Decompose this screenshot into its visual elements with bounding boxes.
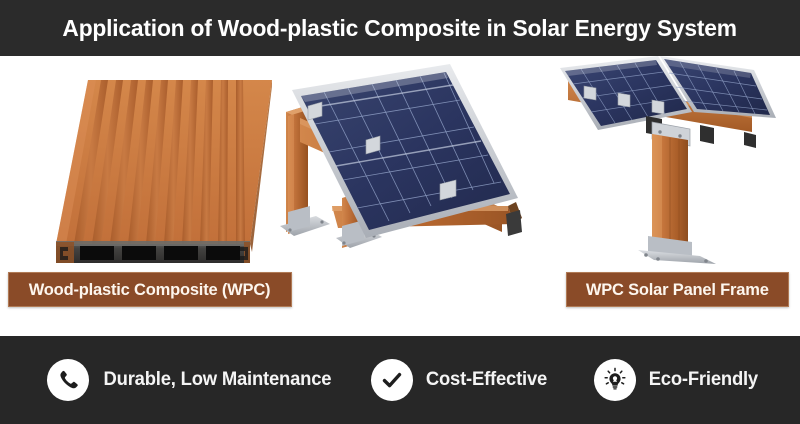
solar-frame-svg <box>270 56 526 270</box>
feature-eco-friendly-label: Eco-Friendly <box>649 369 758 391</box>
caption-wpc-board-text: Wood-plastic Composite (WPC) <box>29 280 271 300</box>
features-bar: Durable, Low Maintenance Cost-Effective <box>0 336 800 424</box>
caption-wpc-board: Wood-plastic Composite (WPC) <box>8 272 292 307</box>
check-icon-glyph <box>380 368 404 392</box>
check-icon <box>371 359 413 401</box>
lightbulb-icon-glyph <box>602 367 628 393</box>
phone-icon <box>47 359 89 401</box>
feature-durable-low-maintenance-label: Durable, Low Maintenance <box>104 369 332 391</box>
lightbulb-icon <box>594 359 636 401</box>
feature-durable-low-maintenance[interactable]: Durable, Low Maintenance <box>47 359 335 401</box>
mounting-structure-illustration <box>540 56 800 270</box>
header-banner: Application of Wood-plastic Composite in… <box>0 0 800 56</box>
feature-cost-effective[interactable]: Cost-Effective <box>371 359 549 401</box>
phone-icon-glyph <box>56 368 80 392</box>
wpc-board-illustration <box>4 56 288 270</box>
feature-cost-effective-label: Cost-Effective <box>426 369 547 391</box>
wpc-board-svg <box>4 56 288 270</box>
solar-panel-frame-illustration <box>270 56 526 270</box>
product-card-wpc-board[interactable]: Wood-plastic Composite (WPC) <box>4 56 288 336</box>
mounting-structure-svg <box>540 56 800 270</box>
product-gallery: Wood-plastic Composite (WPC) <box>0 56 800 336</box>
product-card-solar-panel-frame[interactable]: WPC Solar Panel Frame <box>270 56 526 336</box>
product-card-mounting-structure[interactable]: WPC Mounting Structure <box>540 56 800 336</box>
page-title: Application of Wood-plastic Composite in… <box>63 15 737 42</box>
feature-eco-friendly[interactable]: Eco-Friendly <box>594 359 760 401</box>
